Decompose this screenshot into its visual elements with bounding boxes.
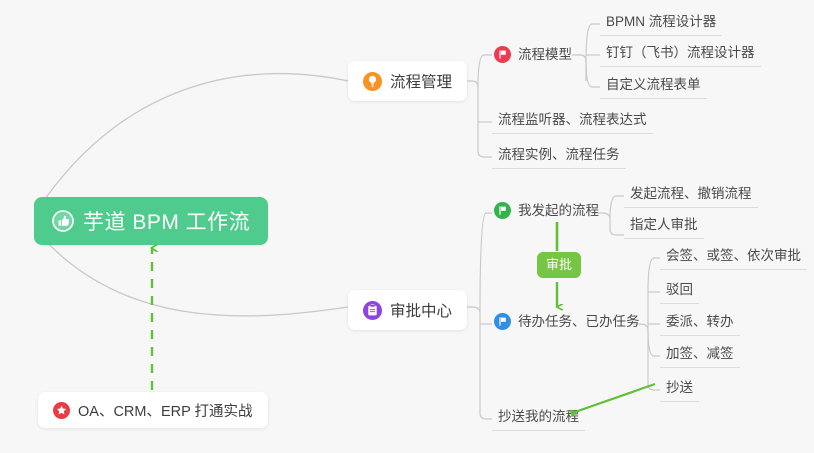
thumbs-up-icon <box>52 210 74 232</box>
leaf-process-instance[interactable]: 流程实例、流程任务 <box>492 145 626 169</box>
leaf-process-listener[interactable]: 流程监听器、流程表达式 <box>492 110 653 134</box>
node-my-started-process[interactable]: 我发起的流程 <box>492 201 605 224</box>
leaf-label: 抄送 <box>666 380 693 395</box>
branch-process-management[interactable]: 流程管理 <box>348 61 467 101</box>
leaf-countersign[interactable]: 会签、或签、依次审批 <box>660 246 807 270</box>
leaf-label: 流程监听器、流程表达式 <box>498 112 647 127</box>
leaf-bpmn-designer[interactable]: BPMN 流程设计器 <box>600 12 722 36</box>
node-process-model[interactable]: 流程模型 <box>492 45 578 68</box>
approval-pill-label: 审批 <box>546 257 572 272</box>
root-label: 芋道 BPM 工作流 <box>83 206 250 236</box>
leaf-label: 发起流程、撤销流程 <box>630 186 752 201</box>
leaf-label: 委派、转办 <box>666 314 734 329</box>
node-label: 流程模型 <box>518 45 572 64</box>
branch-label: 流程管理 <box>390 70 452 92</box>
leaf-delegate-transfer[interactable]: 委派、转办 <box>660 312 740 336</box>
leaf-label: 流程实例、流程任务 <box>498 147 620 162</box>
leaf-dingtalk-designer[interactable]: 钉钉（飞书）流程设计器 <box>600 43 761 67</box>
leaf-label: 钉钉（飞书）流程设计器 <box>606 45 755 60</box>
leaf-reject[interactable]: 驳回 <box>660 280 699 304</box>
blue-flag-icon <box>494 313 511 330</box>
star-icon <box>53 402 70 419</box>
green-flag-icon <box>494 202 511 219</box>
leaf-label: 指定人审批 <box>630 217 698 232</box>
node-label: 我发起的流程 <box>518 201 599 220</box>
curve-root-to-process-management <box>36 74 348 212</box>
branch-approval-center[interactable]: 审批中心 <box>348 290 467 330</box>
leaf-label: 加签、减签 <box>666 346 734 361</box>
red-flag-icon <box>494 46 511 63</box>
leaf-start-cancel-process[interactable]: 发起流程、撤销流程 <box>624 184 758 208</box>
leaf-cc-my-process[interactable]: 抄送我的流程 <box>492 407 585 431</box>
leaf-designated-approval[interactable]: 指定人审批 <box>624 215 704 239</box>
branch-label: 审批中心 <box>390 299 452 321</box>
leaf-label: BPMN 流程设计器 <box>606 14 716 29</box>
bracket-process-management <box>464 81 492 157</box>
approval-pill[interactable]: 审批 <box>537 252 581 278</box>
leaf-label: 抄送我的流程 <box>498 409 579 424</box>
bottom-tag-node[interactable]: OA、CRM、ERP 打通实战 <box>38 392 268 428</box>
mindmap-canvas: 芋道 BPM 工作流 流程管理 流程模型 BPMN 流程设计器 钉钉（飞书）流程 <box>0 0 814 453</box>
lightbulb-icon <box>363 72 382 91</box>
leaf-label: 会签、或签、依次审批 <box>666 248 801 263</box>
leaf-label: 自定义流程表单 <box>606 77 701 92</box>
clipboard-icon <box>363 301 382 320</box>
leaf-custom-form[interactable]: 自定义流程表单 <box>600 75 707 99</box>
node-todo-done-task[interactable]: 待办任务、已办任务 <box>492 312 646 335</box>
root-node[interactable]: 芋道 BPM 工作流 <box>34 197 268 245</box>
bottom-tag-label: OA、CRM、ERP 打通实战 <box>78 400 253 421</box>
leaf-cc[interactable]: 抄送 <box>660 378 699 402</box>
leaf-add-remove-sign[interactable]: 加签、减签 <box>660 344 740 368</box>
leaf-label: 驳回 <box>666 282 693 297</box>
node-label: 待办任务、已办任务 <box>518 312 640 331</box>
